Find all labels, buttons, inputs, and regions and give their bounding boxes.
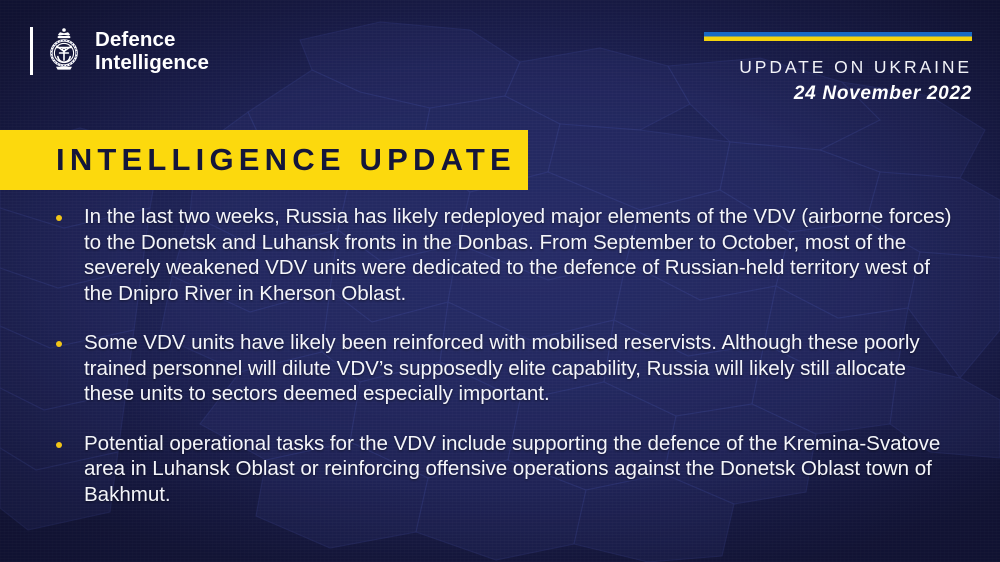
brand-name: Defence Intelligence — [95, 28, 209, 74]
bullet-text: Potential operational tasks for the VDV … — [84, 431, 960, 508]
bullet-text: Some VDV units have likely been reinforc… — [84, 330, 960, 407]
bullet-marker-icon — [56, 215, 62, 221]
brand-divider-rule — [30, 27, 33, 75]
banner-label: INTELLIGENCE UPDATE — [0, 142, 516, 178]
update-title: UPDATE ON UKRAINE — [704, 57, 972, 78]
update-date: 24 November 2022 — [704, 83, 972, 105]
bullet-marker-icon — [56, 442, 62, 448]
list-item: Potential operational tasks for the VDV … — [52, 431, 960, 508]
list-item: Some VDV units have likely been reinforc… — [52, 330, 960, 407]
bullet-text: In the last two weeks, Russia has likely… — [84, 204, 960, 306]
brand-lockup: Defence Intelligence — [30, 27, 209, 75]
brand-line-defence: Defence — [95, 28, 209, 51]
bullet-marker-icon — [56, 341, 62, 347]
royal-crown-naval-crest-icon — [44, 27, 84, 75]
ukraine-flag-bar-icon — [704, 32, 972, 41]
header-right-block: UPDATE ON UKRAINE 24 November 2022 — [704, 32, 972, 105]
header: Defence Intelligence UPDATE ON UKRAINE 2… — [0, 0, 1000, 130]
bullet-list: In the last two weeks, Russia has likely… — [52, 204, 960, 507]
list-item: In the last two weeks, Russia has likely… — [52, 204, 960, 306]
intelligence-update-banner: INTELLIGENCE UPDATE — [0, 130, 528, 190]
intelligence-update-slide: Defence Intelligence UPDATE ON UKRAINE 2… — [0, 0, 1000, 562]
brand-line-intelligence: Intelligence — [95, 51, 209, 74]
